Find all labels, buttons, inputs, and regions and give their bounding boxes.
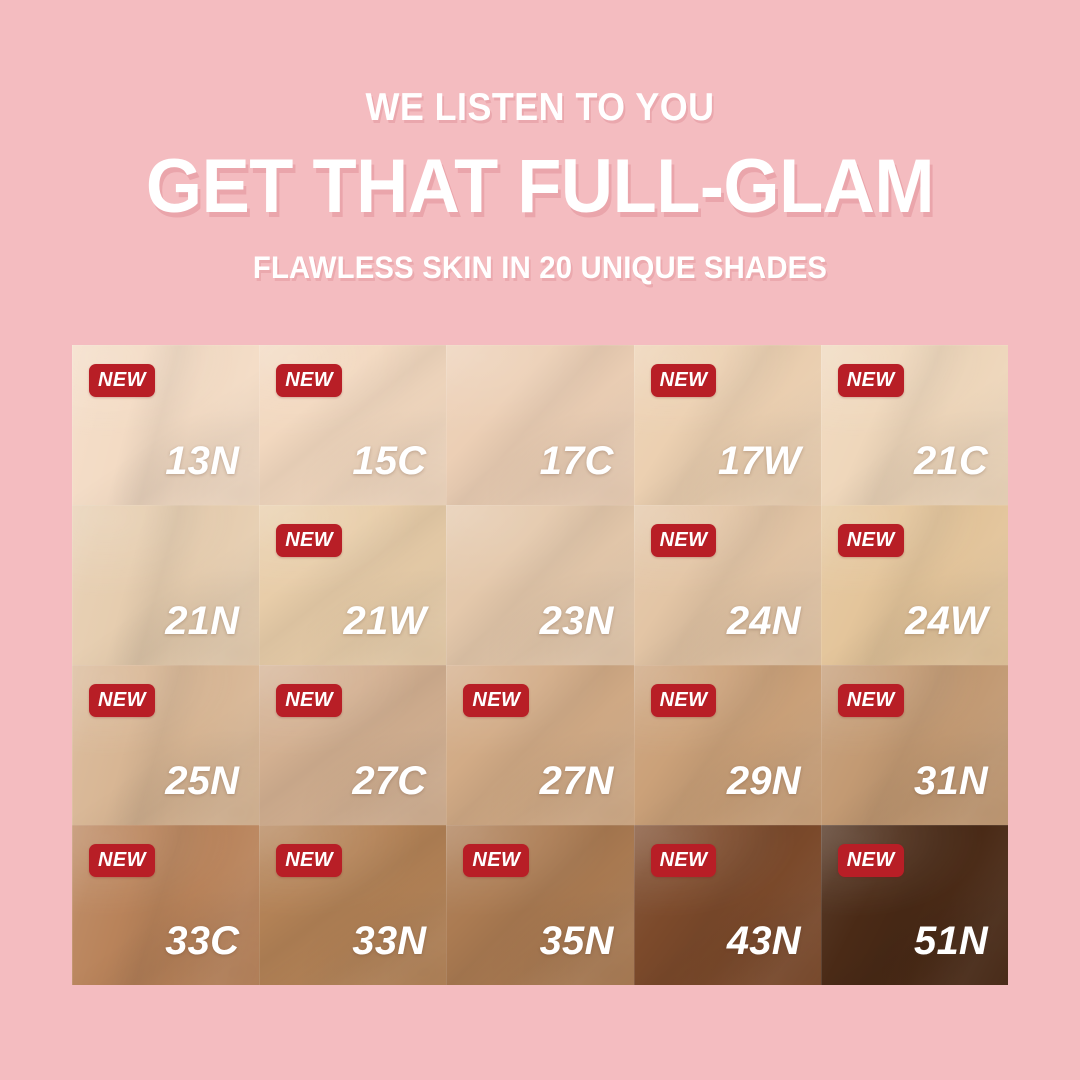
- new-badge: NEW: [651, 684, 717, 717]
- shade-code-label: 17W: [718, 441, 801, 481]
- shade-code-label: 29N: [727, 761, 801, 801]
- new-badge: NEW: [276, 684, 342, 717]
- shade-code-label: 15C: [352, 441, 426, 481]
- new-badge: NEW: [651, 844, 717, 877]
- shade-code-label: 21C: [914, 441, 988, 481]
- shade-swatch-17c[interactable]: 17C: [446, 345, 633, 505]
- new-badge: NEW: [651, 524, 717, 557]
- promo-header: WE LISTEN TO YOU GET THAT FULL-GLAM FLAW…: [0, 0, 1080, 284]
- new-badge: NEW: [838, 844, 904, 877]
- shade-swatch-24n[interactable]: NEW24N: [634, 505, 821, 665]
- header-subtitle: FLAWLESS SKIN IN 20 UNIQUE SHADES: [38, 252, 1042, 284]
- new-badge: NEW: [463, 684, 529, 717]
- new-badge: NEW: [89, 844, 155, 877]
- shade-swatch-23n[interactable]: 23N: [446, 505, 633, 665]
- new-badge: NEW: [276, 844, 342, 877]
- shade-swatch-27n[interactable]: NEW27N: [446, 665, 633, 825]
- shade-code-label: 17C: [540, 441, 614, 481]
- new-badge: NEW: [838, 364, 904, 397]
- shade-code-label: 43N: [727, 921, 801, 961]
- shade-code-label: 33N: [352, 921, 426, 961]
- shade-swatch-24w[interactable]: NEW24W: [821, 505, 1008, 665]
- shade-code-label: 31N: [914, 761, 988, 801]
- shade-swatch-29n[interactable]: NEW29N: [634, 665, 821, 825]
- new-badge: NEW: [463, 844, 529, 877]
- shade-code-label: 33C: [165, 921, 239, 961]
- new-badge: NEW: [651, 364, 717, 397]
- shade-swatch-15c[interactable]: NEW15C: [259, 345, 446, 505]
- new-badge: NEW: [838, 684, 904, 717]
- page-title: GET THAT FULL-GLAM: [27, 149, 1053, 225]
- new-badge: NEW: [838, 524, 904, 557]
- new-badge: NEW: [89, 684, 155, 717]
- shade-swatch-21n[interactable]: 21N: [72, 505, 259, 665]
- shade-code-label: 27C: [352, 761, 426, 801]
- shade-code-label: 24W: [905, 601, 988, 641]
- new-badge: NEW: [276, 364, 342, 397]
- shade-code-label: 35N: [540, 921, 614, 961]
- shade-swatch-17w[interactable]: NEW17W: [634, 345, 821, 505]
- shade-swatch-21w[interactable]: NEW21W: [259, 505, 446, 665]
- shade-swatch-43n[interactable]: NEW43N: [634, 825, 821, 985]
- shade-swatch-21c[interactable]: NEW21C: [821, 345, 1008, 505]
- shade-swatch-33n[interactable]: NEW33N: [259, 825, 446, 985]
- shade-code-label: 21N: [165, 601, 239, 641]
- shade-swatch-33c[interactable]: NEW33C: [72, 825, 259, 985]
- shade-swatch-13n[interactable]: NEW13N: [72, 345, 259, 505]
- shade-swatch-25n[interactable]: NEW25N: [72, 665, 259, 825]
- shade-code-label: 21W: [344, 601, 427, 641]
- shade-swatch-31n[interactable]: NEW31N: [821, 665, 1008, 825]
- shade-code-label: 13N: [165, 441, 239, 481]
- shade-code-label: 23N: [540, 601, 614, 641]
- shade-code-label: 24N: [727, 601, 801, 641]
- shade-code-label: 27N: [540, 761, 614, 801]
- shade-code-label: 25N: [165, 761, 239, 801]
- shade-swatch-51n[interactable]: NEW51N: [821, 825, 1008, 985]
- shade-swatch-27c[interactable]: NEW27C: [259, 665, 446, 825]
- header-eyebrow: WE LISTEN TO YOU: [43, 88, 1037, 127]
- new-badge: NEW: [276, 524, 342, 557]
- shade-code-label: 51N: [914, 921, 988, 961]
- shade-grid: NEW13NNEW15C17CNEW17WNEW21C21NNEW21W23NN…: [72, 345, 1008, 985]
- new-badge: NEW: [89, 364, 155, 397]
- shade-swatch-35n[interactable]: NEW35N: [446, 825, 633, 985]
